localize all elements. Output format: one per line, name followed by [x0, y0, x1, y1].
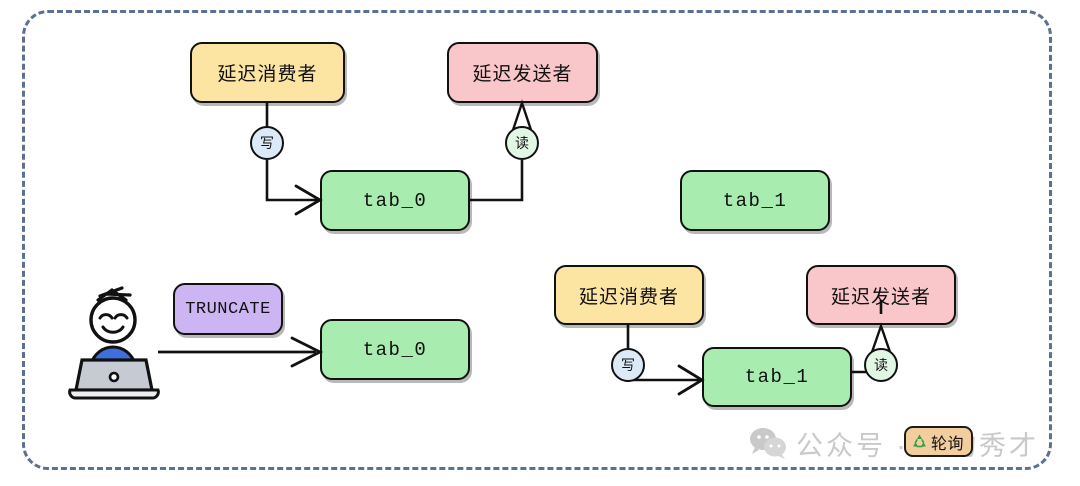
- person-icon: [60, 278, 168, 404]
- node-table-tab1-bottom[interactable]: tab_1: [702, 347, 852, 407]
- edge-circle-write-top[interactable]: 写: [250, 126, 284, 160]
- node-table-tab0-truncated[interactable]: tab_0: [320, 319, 470, 380]
- recycle-icon: [911, 433, 928, 450]
- node-table-tab1-idle[interactable]: tab_1: [680, 170, 830, 231]
- watermark: 公众号 · 什物秀才 轮询: [748, 418, 1039, 468]
- node-label: 延迟消费者: [579, 282, 679, 309]
- diagram-canvas: 延迟消费者 延迟发送者 写 读 tab_0 tab_1: [0, 0, 1080, 486]
- person-at-laptop-figure: [60, 278, 168, 404]
- edge-circle-label: 写: [621, 355, 635, 375]
- node-label: tab_1: [723, 190, 788, 212]
- node-label: 延迟发送者: [472, 59, 572, 86]
- node-label: 延迟消费者: [217, 59, 317, 86]
- edge-circle-label: 读: [515, 133, 529, 153]
- node-label: tab_0: [363, 190, 428, 212]
- node-table-tab0-top[interactable]: tab_0: [320, 170, 470, 231]
- node-label: tab_0: [363, 339, 428, 361]
- edge-circle-read-bottom[interactable]: 读: [864, 348, 898, 382]
- node-delay-sender-bottom[interactable]: 延迟发送者: [806, 265, 956, 325]
- edge-circle-write-bottom[interactable]: 写: [611, 348, 645, 382]
- node-delay-consumer-bottom[interactable]: 延迟消费者: [554, 265, 704, 325]
- polling-badge: 轮询: [904, 426, 973, 457]
- node-delay-consumer-top[interactable]: 延迟消费者: [190, 42, 345, 103]
- node-label: 延迟发送者: [831, 282, 931, 309]
- polling-badge-label: 轮询: [931, 430, 964, 454]
- node-truncate-command[interactable]: TRUNCATE: [173, 283, 283, 335]
- edge-circle-label: 写: [260, 133, 274, 153]
- node-label: tab_1: [745, 366, 810, 388]
- edge-circle-read-top[interactable]: 读: [505, 126, 539, 160]
- node-delay-sender-top[interactable]: 延迟发送者: [447, 42, 598, 103]
- edge-circle-label: 读: [874, 355, 888, 375]
- node-label: TRUNCATE: [185, 300, 271, 319]
- wechat-icon: [748, 426, 788, 460]
